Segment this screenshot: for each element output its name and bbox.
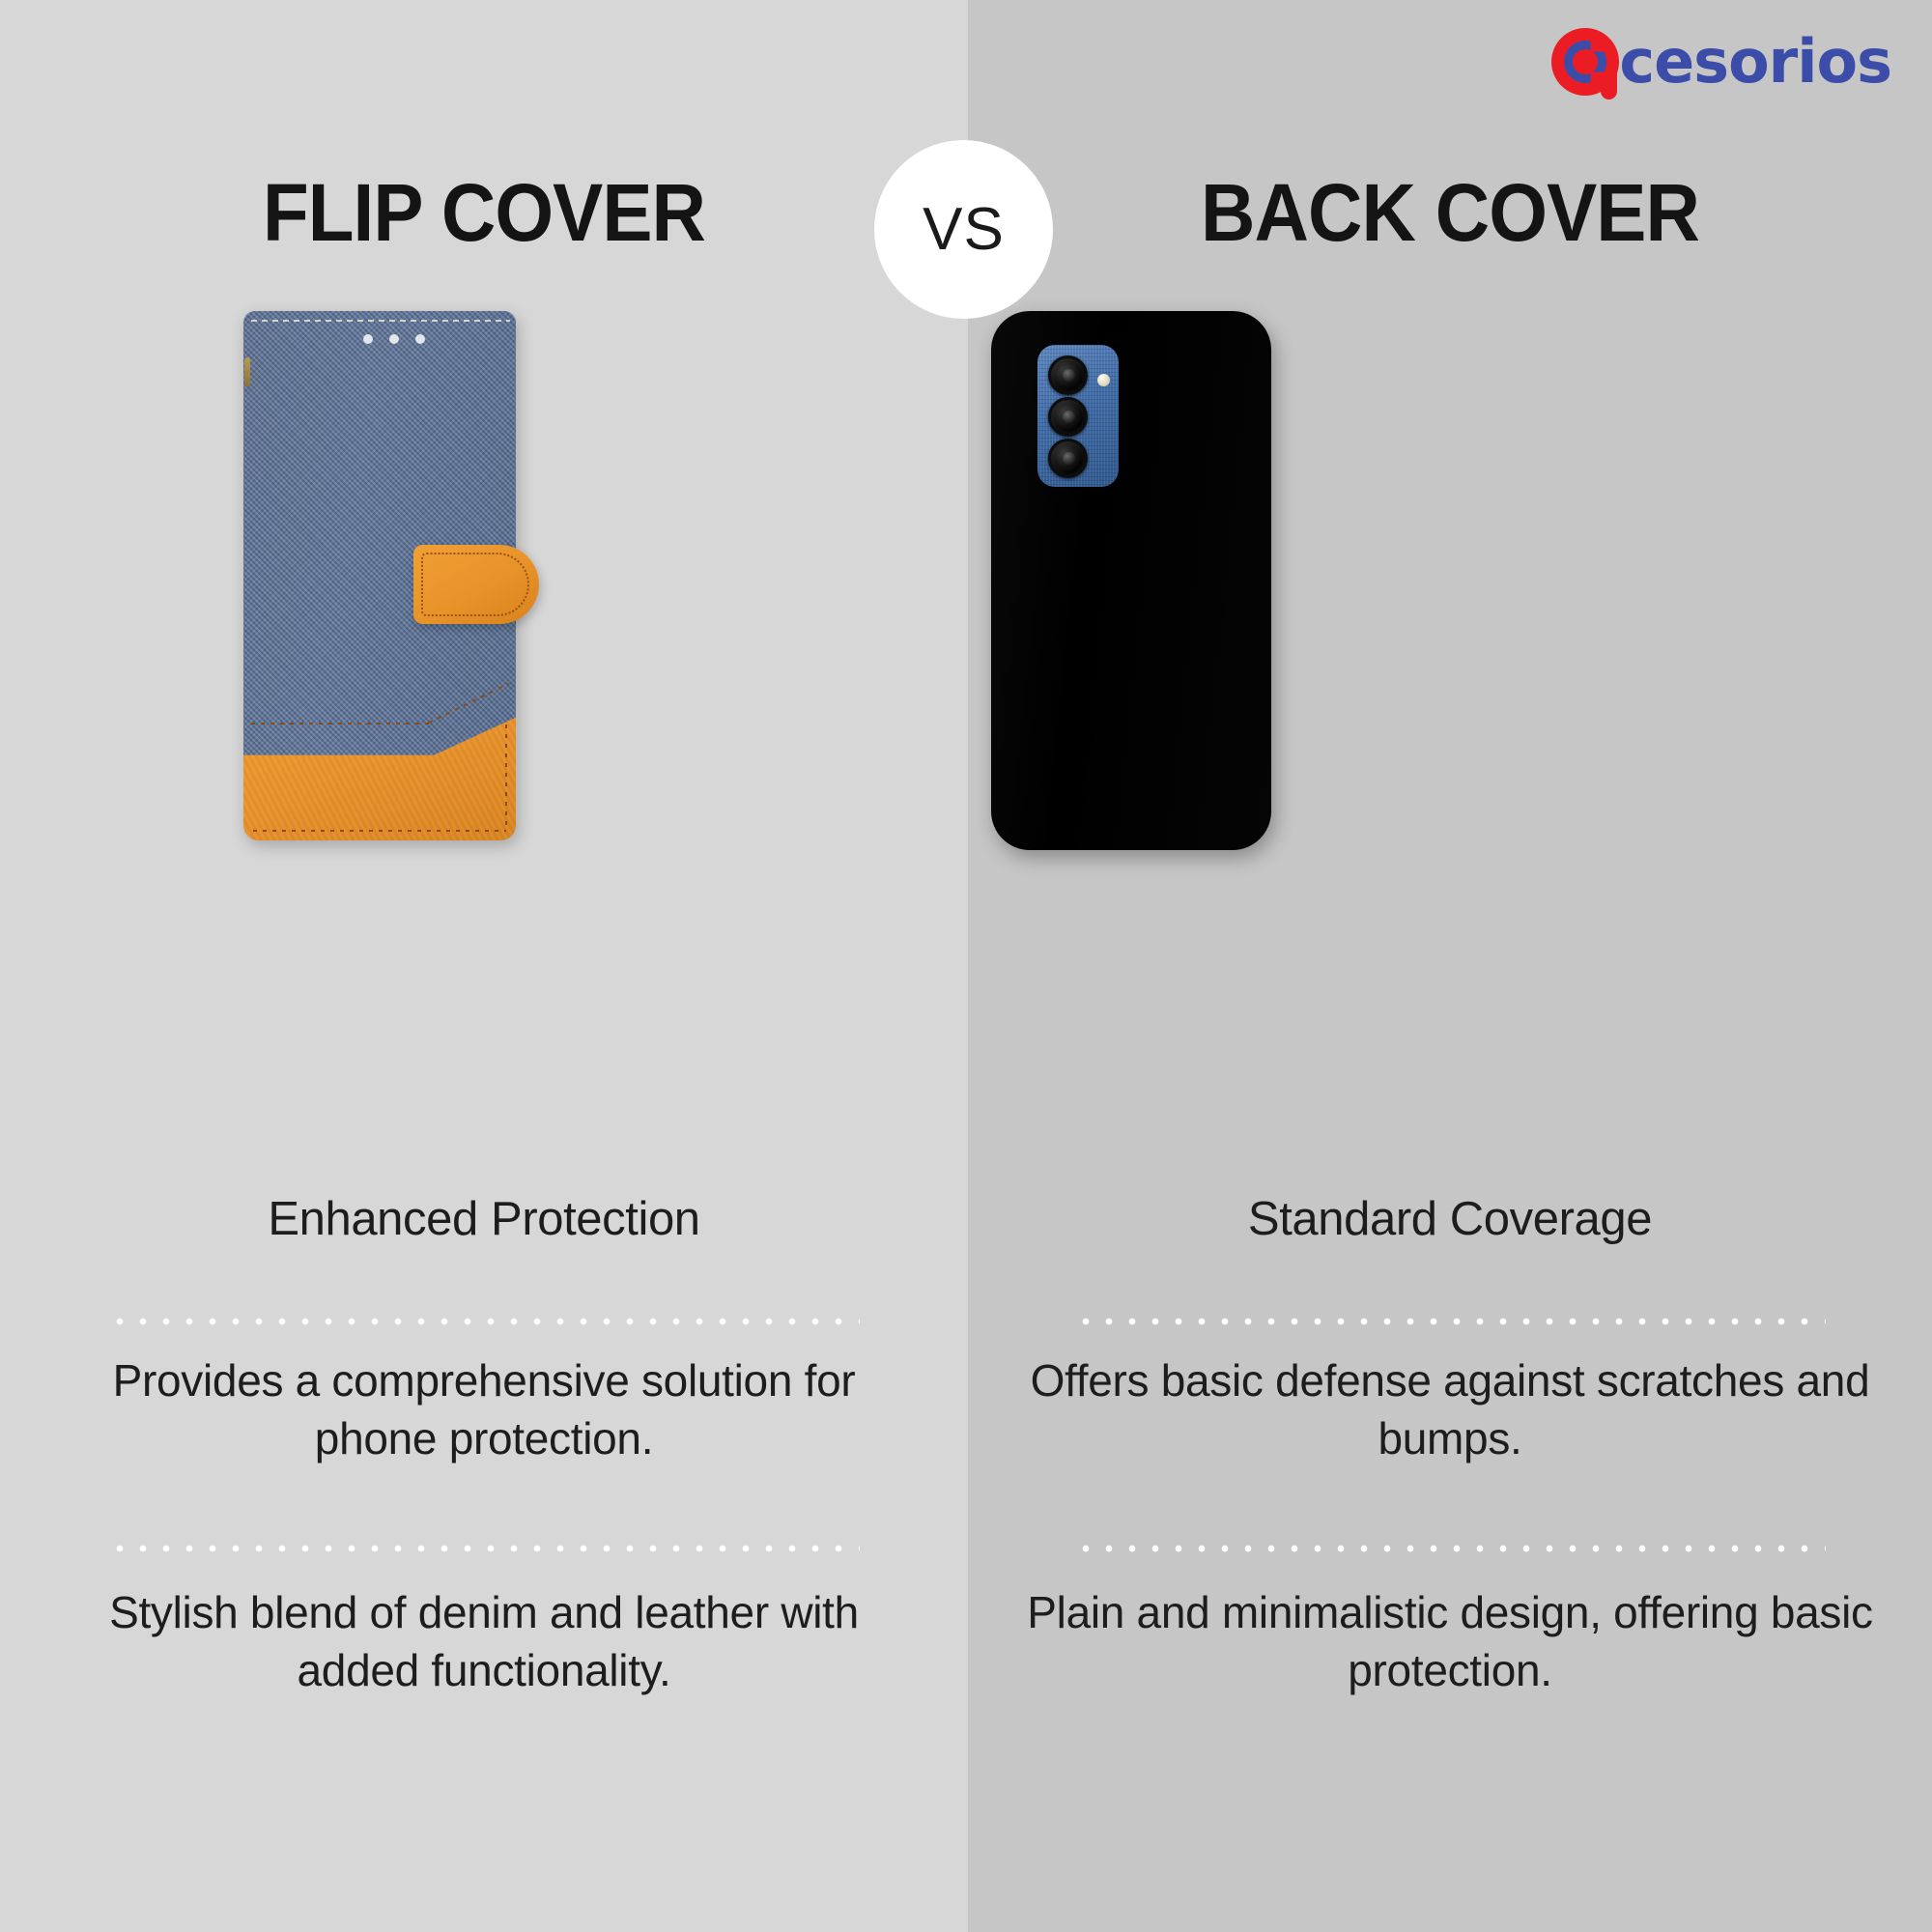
subtitle-flip-cover: Enhanced Protection	[50, 1190, 918, 1249]
heading-back-cover: BACK COVER	[1002, 166, 1898, 260]
feature-left-2: Stylish blend of denim and leather with …	[50, 1584, 918, 1700]
flip-cover-hinge-icon	[244, 357, 250, 386]
flip-cover-bottom-stitching	[253, 830, 506, 832]
divider-left-1	[108, 1316, 860, 1327]
heading-flip-cover: FLIP COVER	[34, 166, 934, 260]
flip-cover-speaker-holes-icon	[363, 334, 425, 344]
divider-right-1	[1074, 1316, 1826, 1327]
feature-right-2: Plain and minimalistic design, offering …	[1016, 1584, 1884, 1700]
brand-logo-text: cesorios	[1619, 32, 1891, 92]
flip-cover-magnetic-clasp	[413, 545, 539, 624]
flip-cover-leather-panel	[243, 715, 516, 840]
feature-left-1: Provides a comprehensive solution for ph…	[50, 1352, 918, 1468]
flip-cover-top-stitching	[251, 320, 510, 322]
brand-logo[interactable]: cesorios	[1551, 25, 1891, 99]
feature-right-1: Offers basic defense against scratches a…	[1016, 1352, 1884, 1468]
divider-right-2	[1074, 1543, 1826, 1554]
camera-lens-icon-3	[1048, 439, 1088, 478]
flip-cover-side-stitching	[505, 724, 507, 831]
acesorios-mark-icon	[1551, 28, 1619, 96]
versus-label: VS	[923, 195, 1005, 264]
camera-lens-icon-1	[1048, 355, 1088, 395]
camera-lens-icon-2	[1048, 397, 1088, 437]
camera-flash-icon	[1097, 374, 1110, 386]
flip-cover-diagonal-stitching	[429, 683, 510, 724]
flip-cover-seam-stitching	[251, 723, 431, 724]
subtitle-back-cover: Standard Coverage	[1016, 1190, 1884, 1249]
back-cover-product-image	[991, 311, 1271, 850]
camera-module	[1037, 345, 1119, 487]
divider-left-2	[108, 1543, 860, 1554]
versus-badge: VS	[874, 140, 1053, 319]
